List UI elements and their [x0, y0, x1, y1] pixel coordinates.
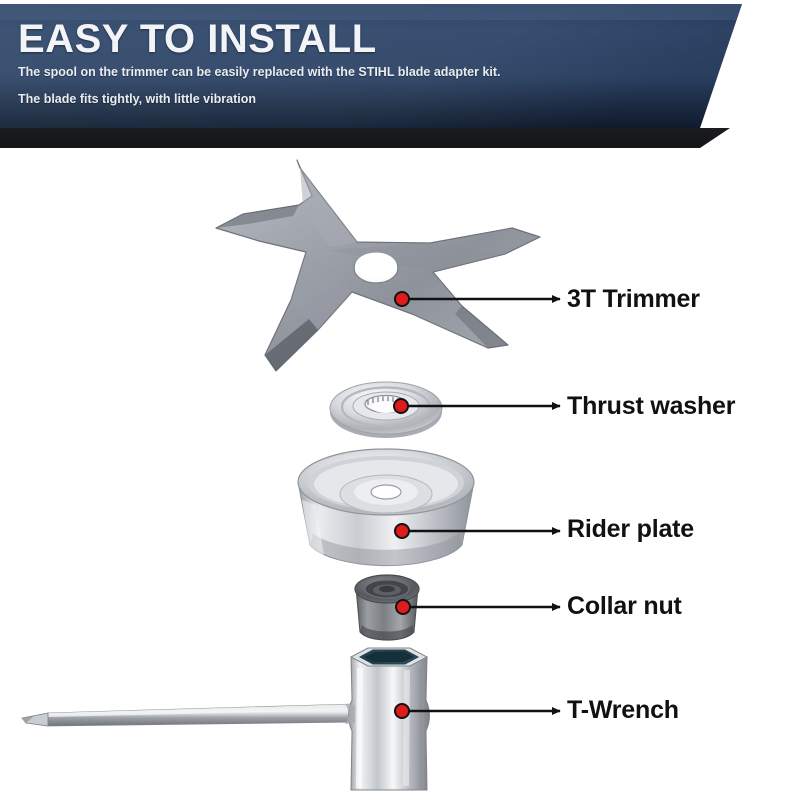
- part-t-wrench: [22, 648, 430, 790]
- callout-label-thrust-washer: Thrust washer: [567, 392, 735, 421]
- callout-label-trimmer: 3T Trimmer: [567, 285, 700, 314]
- product-infographic: EASY TO INSTALL The spool on the trimmer…: [0, 0, 800, 800]
- part-thrust-washer: [330, 382, 442, 438]
- callout-label-t-wrench: T-Wrench: [567, 696, 679, 725]
- callout-label-rider-plate: Rider plate: [567, 515, 694, 544]
- callout-label-collar-nut: Collar nut: [567, 592, 682, 621]
- part-3t-trimmer-blade: [216, 160, 540, 371]
- part-collar-nut: [355, 575, 419, 640]
- part-rider-plate: [298, 449, 474, 566]
